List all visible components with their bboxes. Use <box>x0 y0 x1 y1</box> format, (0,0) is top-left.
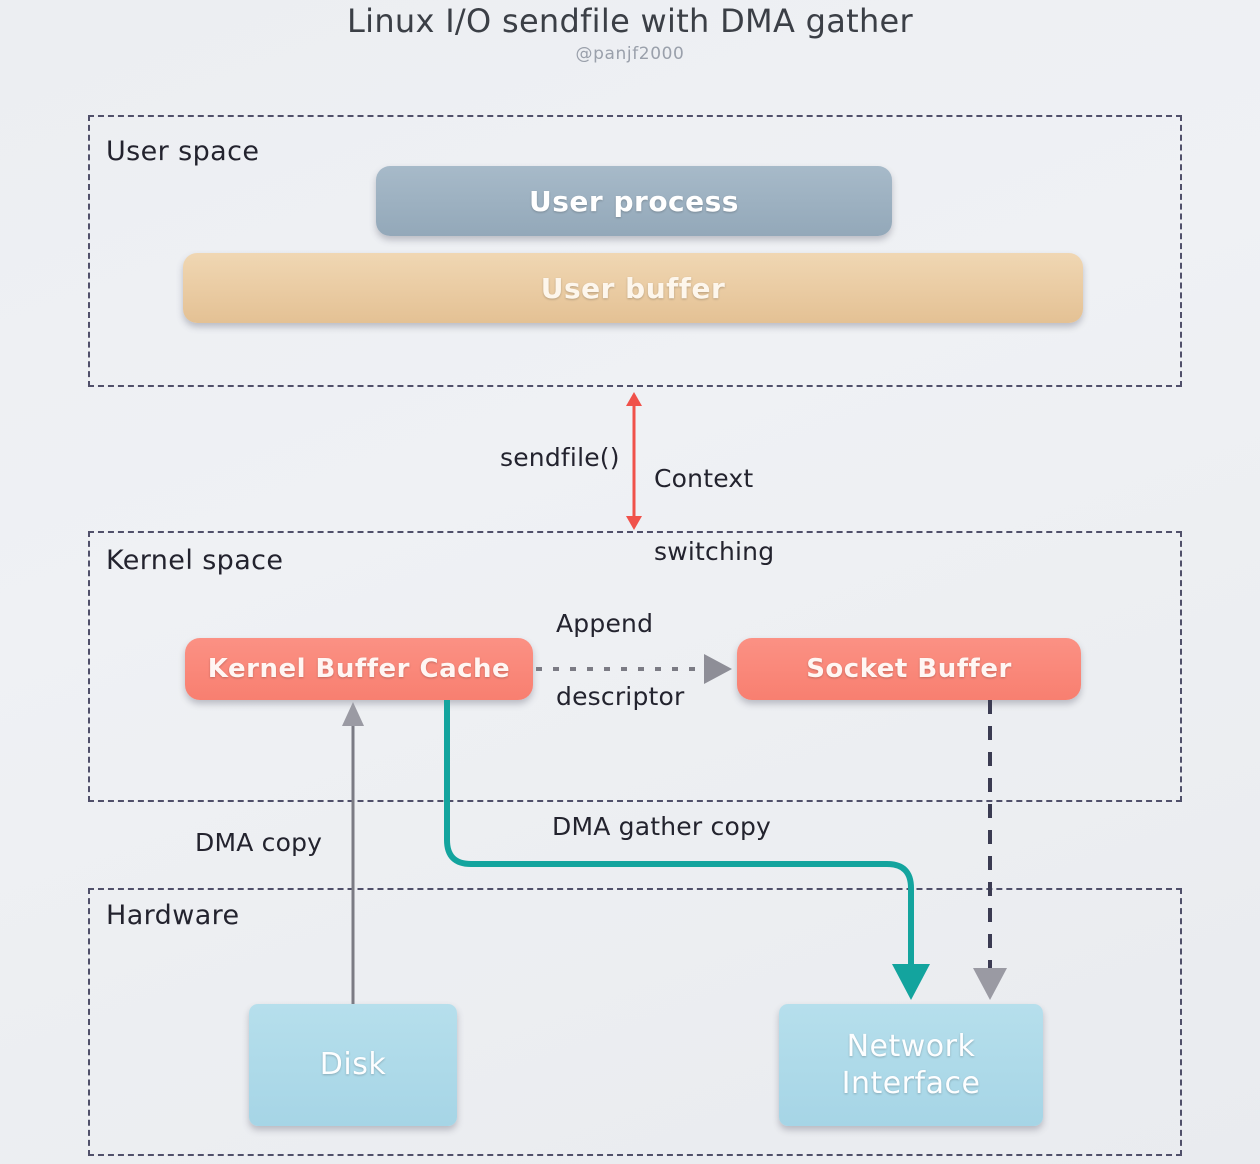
page-subtitle: @panjf2000 <box>0 44 1260 64</box>
region-user-space-label: User space <box>106 136 259 167</box>
annotation-dma-gather-copy: DMA gather copy <box>552 812 771 841</box>
annotation-append-descriptor-line2: descriptor <box>556 679 685 715</box>
arrow-context-switching <box>626 392 642 530</box>
annotation-sendfile: sendfile() <box>500 443 620 472</box>
node-user-process[interactable]: User process <box>376 166 892 236</box>
annotation-append-descriptor-line1: Append <box>556 606 685 642</box>
annotation-append-descriptor: Append descriptor <box>556 570 685 751</box>
annotation-context-switching-line1: Context <box>654 461 774 497</box>
node-network-interface-line2: Interface <box>842 1065 981 1103</box>
node-kernel-buffer-cache[interactable]: Kernel Buffer Cache <box>185 638 533 700</box>
node-network-interface[interactable]: Network Interface <box>779 1004 1043 1126</box>
annotation-context-switching-line2: switching <box>654 534 774 570</box>
node-socket-buffer[interactable]: Socket Buffer <box>737 638 1081 700</box>
region-hardware-label: Hardware <box>106 900 240 931</box>
page-title: Linux I/O sendfile with DMA gather <box>0 2 1260 40</box>
node-disk[interactable]: Disk <box>249 1004 457 1126</box>
node-user-buffer[interactable]: User buffer <box>183 253 1083 323</box>
annotation-dma-copy: DMA copy <box>195 828 322 857</box>
node-network-interface-line1: Network <box>847 1028 976 1066</box>
region-kernel-space-label: Kernel space <box>106 545 283 576</box>
diagram-canvas: Linux I/O sendfile with DMA gather @panj… <box>0 0 1260 1164</box>
